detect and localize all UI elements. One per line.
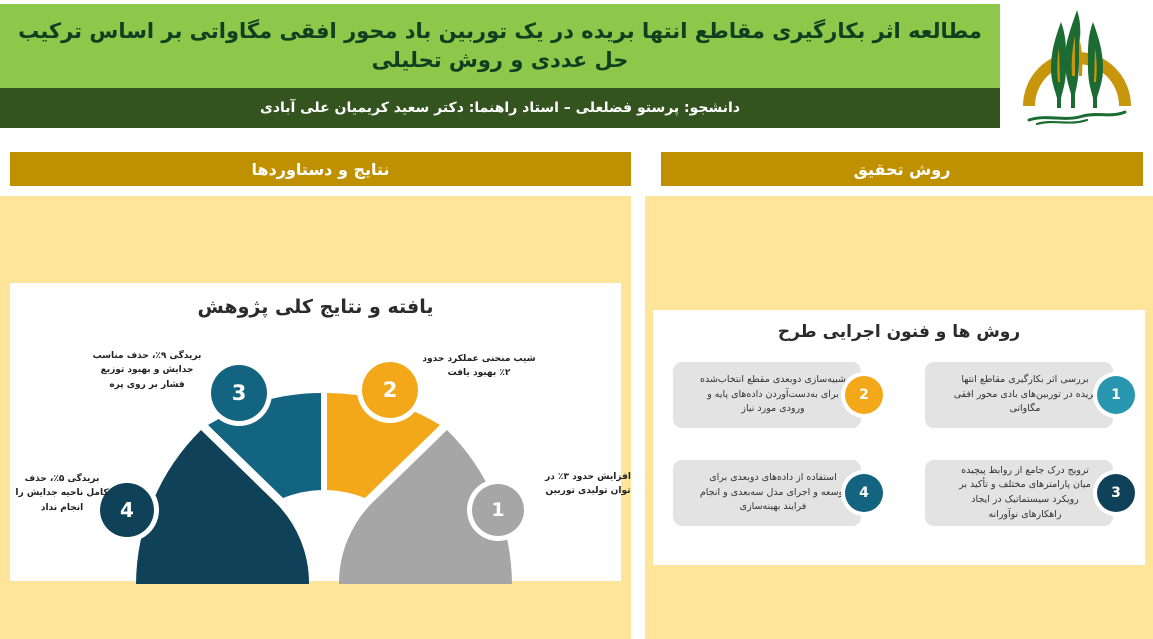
method-step-2-badge: 2 [845, 376, 883, 414]
method-step-4[interactable]: استفاده از داده‌های دوبعدی برای توسعه و … [653, 460, 883, 526]
method-card [653, 310, 1145, 565]
result-badge-2: 2 [362, 362, 418, 418]
subtitle-band: دانشجو: پرستو فضلعلی – استاد راهنما: دکت… [0, 88, 1000, 128]
method-step-3-text: ترویج درک جامع از روابط پیچیده میان پارا… [951, 464, 1099, 523]
method-step-1[interactable]: بررسی اثر بکارگیری مقاطع انتها بریده در … [905, 362, 1135, 428]
method-step-2-text: شبیه‌سازی دوبعدی مقطع انتخاب‌شده برای به… [699, 373, 847, 417]
method-step-1-text: بررسی اثر بکارگیری مقاطع انتها بریده در … [951, 373, 1099, 417]
method-step-4-box: استفاده از داده‌های دوبعدی برای توسعه و … [673, 460, 861, 526]
title-band: مطالعه اثر بکارگیری مقاطع انتها بریده در… [0, 4, 1000, 88]
method-step-2[interactable]: شبیه‌سازی دوبعدی مقطع انتخاب‌شده برای به… [653, 362, 883, 428]
result-badge-3: 3 [211, 365, 267, 421]
section-bar-results: نتایج و دستاوردها [10, 152, 631, 186]
result-label-3: بریدگی ٩٪، حذف مناسب جدایش و بهبود توزیع… [92, 349, 202, 392]
section-bar-method-label: روش تحقیق [854, 160, 951, 179]
method-title: روش ها و فنون اجرایی طرح [653, 322, 1145, 342]
authors-line: دانشجو: پرستو فضلعلی – استاد راهنما: دکت… [260, 100, 740, 116]
result-label-2: شیب منحنی عملکرد حدود ٢٪ بهبود یافت [420, 352, 538, 381]
poster-root: مطالعه اثر بکارگیری مقاطع انتها بریده در… [0, 0, 1153, 639]
poster-header: مطالعه اثر بکارگیری مقاطع انتها بریده در… [0, 0, 1153, 132]
university-logo-icon [1013, 2, 1141, 130]
results-title: یافته و نتایج کلی پژوهش [10, 296, 621, 318]
method-step-2-box: شبیه‌سازی دوبعدی مقطع انتخاب‌شده برای به… [673, 362, 861, 428]
result-label-1: افزایش حدود ٣٪ در توان تولیدی توربین [540, 470, 636, 499]
page-title: مطالعه اثر بکارگیری مقاطع انتها بریده در… [16, 17, 984, 75]
method-step-4-text: استفاده از داده‌های دوبعدی برای توسعه و … [699, 471, 847, 515]
method-step-1-box: بررسی اثر بکارگیری مقاطع انتها بریده در … [925, 362, 1113, 428]
result-badge-1: 1 [472, 484, 524, 536]
result-label-4: بریدگی ۵٪، حذف کامل ناحیه جدایش را انجام… [12, 472, 112, 515]
university-logo [1000, 0, 1153, 132]
method-step-1-badge: 1 [1097, 376, 1135, 414]
section-bar-method: روش تحقیق [661, 152, 1143, 186]
method-step-3[interactable]: ترویج درک جامع از روابط پیچیده میان پارا… [905, 460, 1135, 526]
method-step-4-badge: 4 [845, 474, 883, 512]
method-step-3-badge: 3 [1097, 474, 1135, 512]
method-step-3-box: ترویج درک جامع از روابط پیچیده میان پارا… [925, 460, 1113, 526]
section-bar-results-label: نتایج و دستاوردها [251, 160, 389, 179]
